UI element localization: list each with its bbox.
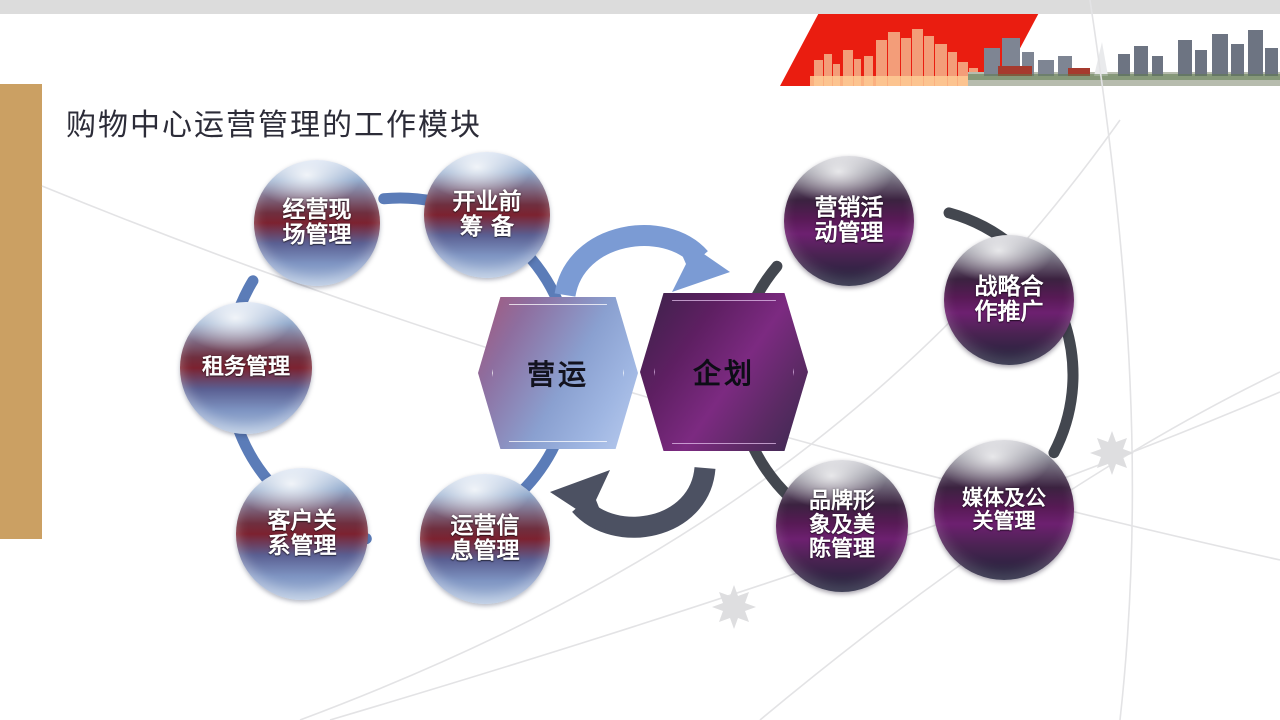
node-label-line: 陈管理 [803, 538, 881, 562]
node-label-line: 动管理 [809, 221, 890, 246]
node-label-line: 租务管理 [196, 356, 296, 380]
node-kehu[interactable]: 客户关 系管理 [236, 468, 368, 600]
node-label-line: 场管理 [277, 223, 358, 248]
node-zuwu[interactable]: 租务管理 [180, 302, 312, 434]
node-label-line: 开业前 [447, 190, 528, 215]
node-meiti[interactable]: 媒体及公 关管理 [934, 440, 1074, 580]
node-label-line: 系管理 [262, 534, 343, 559]
node-label-line: 象及美 [803, 514, 881, 538]
node-label-line: 息管理 [445, 539, 526, 564]
node-label-line: 运营信 [445, 514, 526, 539]
hexagon-label: 营运 [527, 353, 589, 393]
node-label-line: 作推广 [969, 300, 1050, 325]
node-kaiye[interactable]: 开业前 筹 备 [424, 152, 550, 278]
node-label-line: 营销活 [809, 196, 890, 221]
node-label-line: 客户关 [262, 509, 343, 534]
node-jingying[interactable]: 经营现 场管理 [254, 160, 380, 286]
node-label-line: 战略合 [969, 275, 1050, 300]
diagram-nodes: 经营现 场管理 开业前 筹 备 租务管理 客户关 系管理 运营信 息管理 [0, 0, 1280, 720]
node-label-line: 关管理 [956, 510, 1052, 533]
node-label-line: 媒体及公 [956, 487, 1052, 510]
node-label-line: 经营现 [277, 198, 358, 223]
hexagon-qihua[interactable]: 企划 [640, 293, 808, 451]
slide-canvas: 购物中心运营管理的工作模块 经营现 场管理 开业前 筹 备 [0, 0, 1280, 720]
hexagon-label: 企划 [693, 352, 755, 392]
node-pinpai[interactable]: 品牌形 象及美 陈管理 [776, 460, 908, 592]
node-yunying[interactable]: 运营信 息管理 [420, 474, 550, 604]
hexagon-yingyun[interactable]: 营运 [478, 297, 638, 449]
node-yingxiao[interactable]: 营销活 动管理 [784, 156, 914, 286]
node-label-line: 筹 备 [447, 215, 528, 240]
node-zhanlue[interactable]: 战略合 作推广 [944, 235, 1074, 365]
node-label-line: 品牌形 [803, 490, 881, 514]
